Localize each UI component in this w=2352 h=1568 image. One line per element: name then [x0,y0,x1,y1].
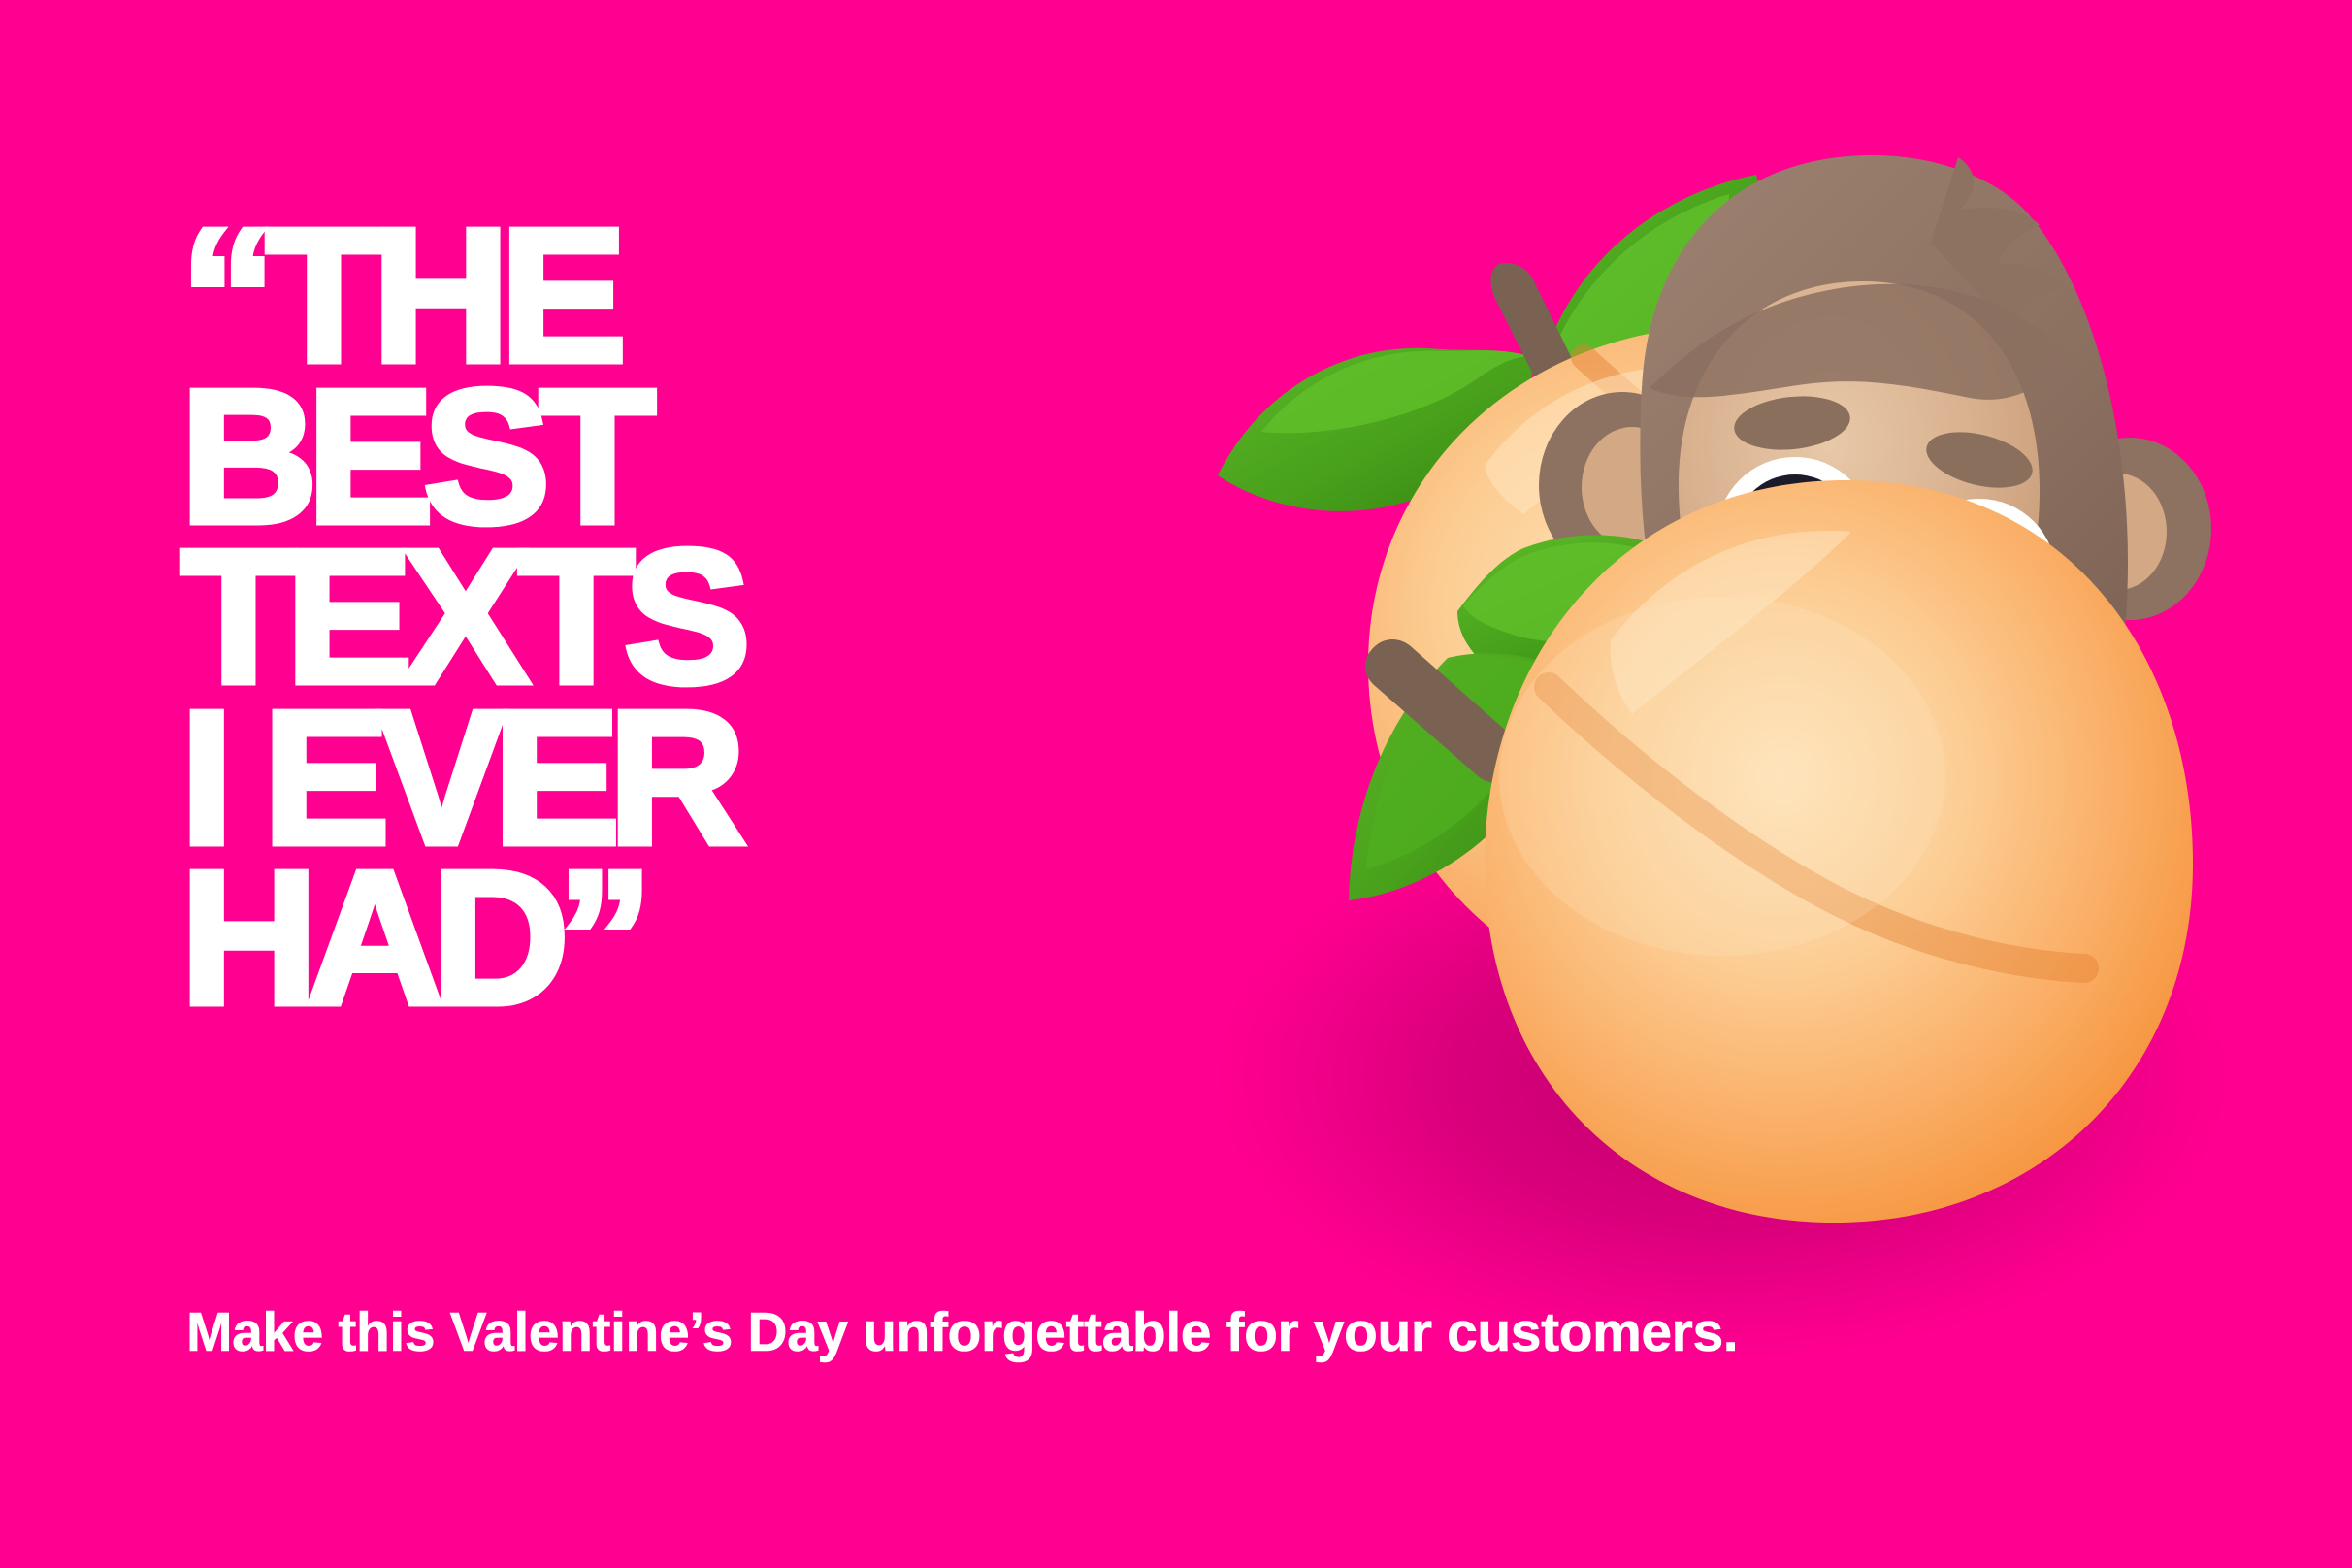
headline-line-5: HAD” [180,858,1248,1019]
page-title: “THE BEST TEXTS I EVER HAD” [180,215,1248,1019]
front-peach-sheen [1499,597,1945,956]
valentines-promo-banner: “THE BEST TEXTS I EVER HAD” Make this Va… [0,0,2352,1568]
peaches-monkey-illustration [1193,97,2338,1290]
tagline: Make this Valentine’s Day unforgettable … [186,1300,1738,1364]
